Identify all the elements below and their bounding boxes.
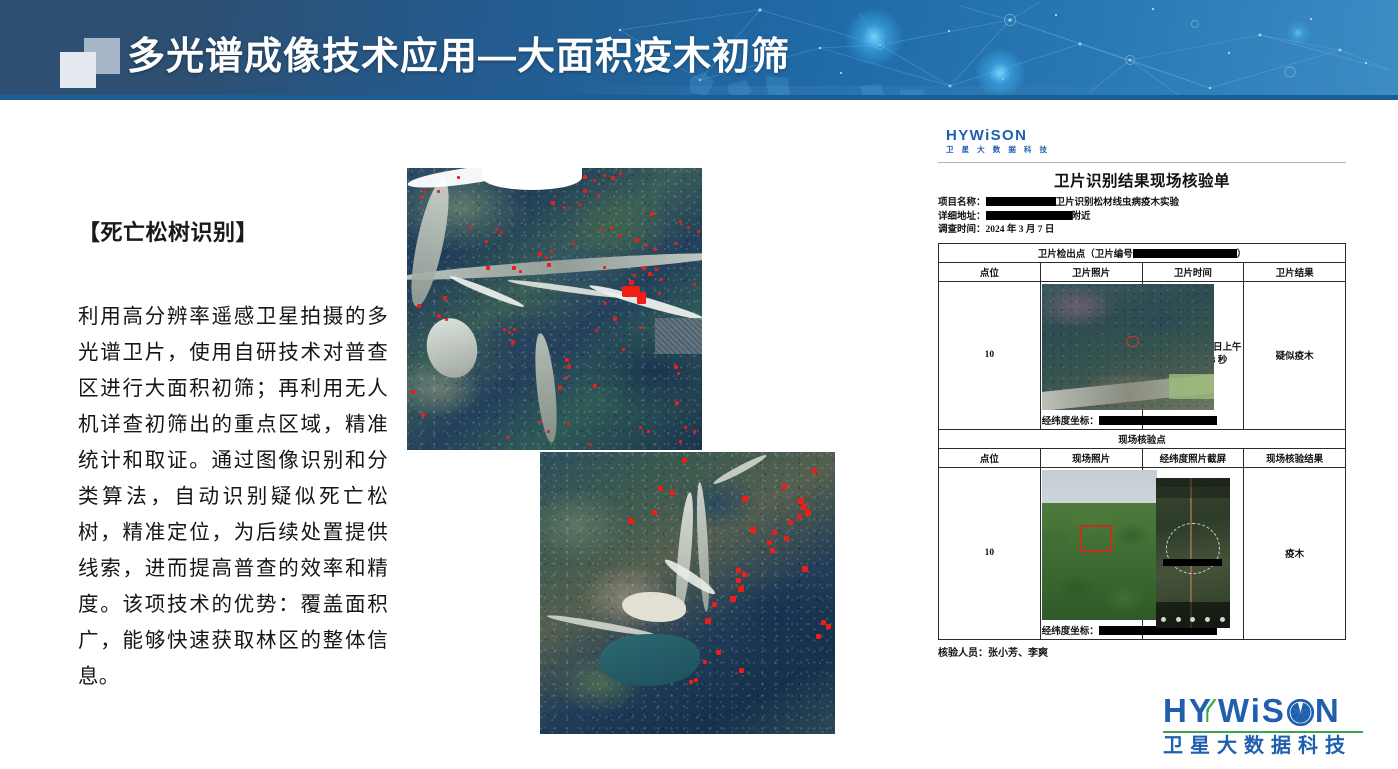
- table-row: 10 经纬度坐标：: [939, 467, 1346, 639]
- coord-row-1: 经纬度坐标：: [1042, 413, 1141, 427]
- th-field-photo: 现场照片: [1040, 448, 1142, 467]
- cell-satellite-photo: 经纬度坐标：: [1040, 281, 1142, 429]
- cell-field-result: 疫木: [1244, 467, 1346, 639]
- company-logo: HY Y WiS N 卫: [1163, 694, 1363, 757]
- company-logo-wordmark: HY Y WiS N: [1163, 694, 1363, 728]
- dead-tree-bounding-box-icon: [1080, 525, 1112, 552]
- table-header-row-2: 点位 现场照片 经纬度照片截屏 现场核验结果: [939, 448, 1346, 467]
- document-logo-text: HYWiSON: [946, 128, 1346, 144]
- th-satellite-time: 卫片时间: [1142, 262, 1244, 281]
- meta-project-value: 卫片识别松材线虫病疫木实验: [1056, 198, 1180, 208]
- th-point: 点位: [939, 262, 1041, 281]
- left-text-column: 【死亡松树识别】 利用高分辨率遥感卫星拍摄的多光谱卫片，使用自研技术对普查区进行…: [78, 215, 388, 695]
- table-header-row-1: 点位 卫片照片 卫片时间 卫片结果: [939, 262, 1346, 281]
- table-band-row-2: 现场核验点: [939, 429, 1346, 448]
- redaction-bar-project: [986, 197, 1056, 206]
- table-band-row-1: 卫片检出点（卫片编号）: [939, 243, 1346, 262]
- cell-point-2: 10: [939, 467, 1041, 639]
- band-field-verification: 现场核验点: [939, 429, 1346, 448]
- banner-underline: [0, 95, 1398, 100]
- logo-letters-wis: WiS: [1218, 694, 1286, 728]
- meta-address-label: 详细地址：: [938, 212, 986, 222]
- document-title: 卫片识别结果现场核验单: [938, 169, 1346, 191]
- coord-row-2: 经纬度坐标：: [1042, 623, 1141, 637]
- satellite-image-bottom: [540, 452, 835, 734]
- section-heading: 【死亡松树识别】: [78, 215, 388, 247]
- document-logo-subtext: 卫 星 大 数 据 科 技: [946, 145, 1346, 155]
- band-satellite-point-text: 卫片检出点（卫片编号: [1038, 250, 1133, 260]
- coord-label-1: 经纬度坐标：: [1042, 417, 1099, 427]
- inspection-document: HYWiSON 卫 星 大 数 据 科 技 卫片识别结果现场核验单 项目名称：卫…: [938, 128, 1346, 690]
- document-divider: [938, 162, 1346, 163]
- meta-project: 项目名称：卫片识别松材线虫病疫木实验: [938, 197, 1346, 211]
- meta-date-value: 2024 年 3 月 7 日: [986, 225, 1055, 235]
- satellite-detection-table: 卫片检出点（卫片编号） 点位 卫片照片 卫片时间 卫片结果 10 经纬度坐标：: [938, 243, 1346, 640]
- meta-address-value: 附近: [1072, 212, 1091, 222]
- table-row: 10 经纬度坐标： 2023 年 12 月 28 日上午 10 点 44 分 2…: [939, 281, 1346, 429]
- redaction-bar-phone-coord: [1163, 559, 1222, 566]
- th-satellite-photo: 卫片照片: [1040, 262, 1142, 281]
- slide-header-banner: 多光谱成像技术应用—大面积疫木初筛: [0, 0, 1398, 100]
- section-body-text: 利用高分辨率遥感卫星拍摄的多光谱卫片，使用自研技术对普查区进行大面积初筛；再利用…: [78, 299, 388, 695]
- cell-field-photo: 经纬度坐标：: [1040, 467, 1142, 639]
- band-satellite-point-tail: ）: [1237, 250, 1247, 260]
- coord-label-2: 经纬度坐标：: [1042, 627, 1099, 637]
- aperture-icon: [1287, 698, 1314, 725]
- redaction-bar-address: [986, 211, 1072, 220]
- page-title: 多光谱成像技术应用—大面积疫木初筛: [127, 25, 790, 80]
- cell-coord-screenshot: [1142, 467, 1244, 639]
- title-square-front-icon: [60, 52, 96, 88]
- document-logo: HYWiSON 卫 星 大 数 据 科 技: [938, 128, 1346, 158]
- th-satellite-result: 卫片结果: [1244, 262, 1346, 281]
- th-coord-screenshot: 经纬度照片截屏: [1142, 448, 1244, 467]
- meta-project-label: 项目名称：: [938, 198, 986, 208]
- th-field-result: 现场核验结果: [1244, 448, 1346, 467]
- meta-date: 调查时间：2024 年 3 月 7 日: [938, 224, 1346, 238]
- meta-address: 详细地址：附近: [938, 211, 1346, 225]
- inspector-line: 核验人员：张小芳、李爽: [938, 644, 1346, 659]
- logo-letter-n: N: [1315, 694, 1340, 728]
- redaction-bar-coord-1: [1099, 416, 1217, 425]
- satellite-image-top: [407, 168, 702, 450]
- th-point-2: 点位: [939, 448, 1041, 467]
- company-logo-subtext: 卫星大数据科技: [1163, 735, 1363, 757]
- satellite-detail-photo: [1042, 284, 1214, 410]
- slide-root: 多光谱成像技术应用—大面积疫木初筛 【死亡松树识别】 利用高分辨率遥感卫星拍摄的…: [0, 0, 1398, 769]
- phone-map-screenshot: [1156, 478, 1230, 628]
- meta-date-label: 调查时间：: [938, 225, 986, 235]
- compass-overlay-icon: [1166, 523, 1219, 574]
- cell-satellite-result: 疑似疫木: [1244, 281, 1346, 429]
- cell-point-1: 10: [939, 281, 1041, 429]
- field-site-photo: [1042, 470, 1157, 620]
- band-satellite-point: 卫片检出点（卫片编号）: [939, 243, 1346, 262]
- logo-letters-h: HY: [1163, 694, 1213, 728]
- redaction-bar-satellite-id: [1133, 249, 1237, 258]
- company-logo-rule: [1163, 731, 1363, 733]
